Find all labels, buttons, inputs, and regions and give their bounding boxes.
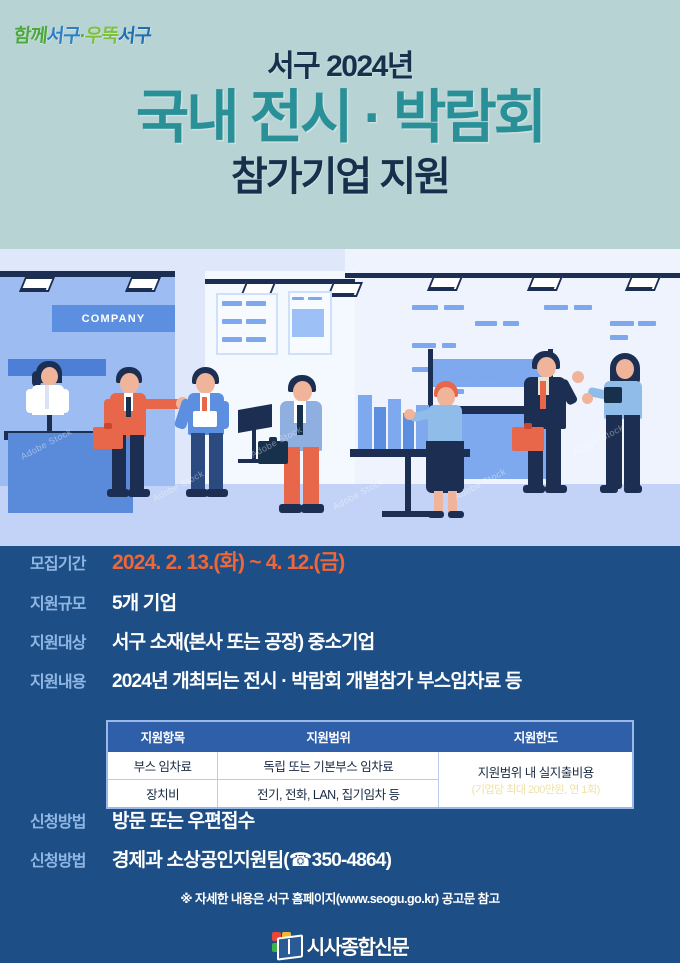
- title-line-3: 참가기업 지원: [0, 154, 680, 200]
- wall-text-line: [503, 321, 519, 326]
- info-value: 5개 기업: [112, 588, 176, 615]
- table-header-scope: 지원범위: [218, 721, 439, 752]
- model-building: [374, 407, 386, 449]
- info-label: 모집기간: [30, 550, 112, 574]
- poster-text-line: [292, 297, 304, 300]
- poster-image-block: [292, 309, 324, 337]
- info-row-eligibility: 지원대상 서구 소재(본사 또는 공장) 중소기업: [0, 627, 680, 654]
- booth-sign-label: COMPANY: [52, 305, 175, 332]
- ceiling-lamp-icon: [527, 276, 563, 291]
- logo-part-2: 서구: [46, 26, 81, 47]
- limit-note-text: (기업당 최대 200만원, 연 1회): [439, 781, 632, 797]
- wall-text-line: [574, 305, 592, 310]
- ceiling-lamp-icon: [625, 276, 661, 291]
- model-building: [358, 395, 372, 449]
- ceiling-lamp-icon: [125, 277, 161, 292]
- wall-text-line: [475, 321, 497, 326]
- wall-text-line: [412, 343, 436, 348]
- newspaper-book-icon: [272, 932, 302, 958]
- footer-value-contact[interactable]: 경제과 소상공인지원팀(☎350-4864): [112, 845, 391, 872]
- table-header-item: 지원항목: [107, 721, 218, 752]
- poster-text-line: [246, 319, 266, 324]
- info-value: 서구 소재(본사 또는 공장) 중소기업: [112, 627, 375, 654]
- logo-part-4: 서구: [117, 26, 152, 47]
- poster-header: 함께서구·우뚝서구 서구 2024년 국내 전시 · 박람회 참가기업 지원: [0, 0, 680, 249]
- wall-text-line: [442, 343, 456, 348]
- title-line-2: 국내 전시 · 박람회: [0, 85, 680, 152]
- wall-text-line: [638, 321, 656, 326]
- ceiling-lamp-icon: [19, 277, 55, 292]
- info-value: 2024년 개최되는 전시 · 박람회 개별참가 부스임차료 등: [112, 666, 522, 693]
- support-details-table: 지원항목 지원범위 지원한도 부스 임차료 독립 또는 기본부스 임차료 지원범…: [106, 720, 634, 809]
- footer-label: 신청방법: [30, 808, 112, 832]
- center-booth-post: [428, 349, 433, 409]
- wall-text-line: [444, 305, 464, 310]
- info-label: 지원내용: [30, 668, 112, 692]
- center-booth-text-line: [478, 375, 496, 380]
- table-header-row: 지원항목 지원범위 지원한도: [107, 721, 633, 752]
- info-row-support-content: 지원내용 2024년 개최되는 전시 · 박람회 개별참가 부스임차료 등: [0, 666, 680, 693]
- support-details-table-wrapper: 지원항목 지원범위 지원한도 부스 임차료 독립 또는 기본부스 임차료 지원범…: [106, 720, 634, 809]
- table-cell-item: 장치비: [107, 780, 218, 809]
- sisa-jonghap-sinmun-logo: 시사종합신문: [0, 928, 680, 962]
- poster-title-group: 서구 2024년 국내 전시 · 박람회 참가기업 지원: [0, 50, 680, 200]
- wall-text-line: [610, 335, 628, 340]
- info-row-recruitment-period: 모집기간 2024. 2. 13.(화) ~ 4. 12.(금): [0, 546, 680, 576]
- center-booth-text-line: [450, 375, 472, 380]
- seogu-slogan-logo-text: 함께서구·우뚝서구: [13, 21, 153, 48]
- poster-text-line: [222, 319, 242, 324]
- wall-text-line: [544, 305, 568, 310]
- info-label: 지원대상: [30, 629, 112, 653]
- poster-text-line: [222, 301, 242, 306]
- seogu-slogan-logo: 함께서구·우뚝서구: [14, 18, 189, 50]
- poster-text-line: [222, 337, 242, 342]
- footer-note: ※ 자세한 내용은 서구 홈페이지(www.seogu.go.kr) 공고문 참…: [0, 888, 680, 907]
- poster-text-line: [308, 297, 322, 300]
- model-building: [388, 399, 401, 449]
- poster-root: 함께서구·우뚝서구 서구 2024년 국내 전시 · 박람회 참가기업 지원 C…: [0, 0, 680, 963]
- display-table-leg: [405, 455, 411, 513]
- table-header-limit: 지원한도: [439, 721, 633, 752]
- logo-part-1: 함께: [13, 26, 48, 47]
- logo-part-3: 우뚝: [84, 26, 119, 47]
- footer-row-contact: 신청방법 경제과 소상공인지원팀(☎350-4864): [0, 845, 680, 872]
- wall-text-line: [610, 321, 634, 326]
- table-row: 부스 임차료 독립 또는 기본부스 임차료 지원범위 내 실지출비용 (기업당 …: [107, 752, 633, 780]
- info-value-date: 2024. 2. 13.(화) ~ 4. 12.(금): [112, 546, 344, 576]
- poster-text-line: [246, 337, 266, 342]
- display-table-foot: [382, 511, 434, 517]
- footer-label: 신청방법: [30, 847, 112, 871]
- info-row-support-scale: 지원규모 5개 기업: [0, 588, 680, 615]
- title-line-1: 서구 2024년: [0, 50, 680, 83]
- table-cell-item: 부스 임차료: [107, 752, 218, 780]
- table-cell-scope: 전기, 전화, LAN, 집기임차 등: [218, 780, 439, 809]
- newspaper-name: 시사종합신문: [307, 931, 408, 960]
- table-cell-limit: 지원범위 내 실지출비용 (기업당 최대 200만원, 연 1회): [439, 752, 633, 809]
- info-label: 지원규모: [30, 590, 112, 614]
- wall-text-line: [412, 305, 438, 310]
- table-cell-scope: 독립 또는 기본부스 임차료: [218, 752, 439, 780]
- footer-row-application-method: 신청방법 방문 또는 우편접수: [0, 806, 680, 833]
- trade-show-booth-illustration: COMPANY: [0, 249, 680, 546]
- ceiling-lamp-icon: [327, 282, 363, 297]
- ceiling-lamp-icon: [427, 276, 463, 291]
- program-info-list: 모집기간 2024. 2. 13.(화) ~ 4. 12.(금) 지원규모 5개…: [0, 546, 680, 705]
- poster-text-line: [246, 301, 266, 306]
- limit-main-text: 지원범위 내 실지출비용: [439, 762, 632, 781]
- application-info-list: 신청방법 방문 또는 우편접수 신청방법 경제과 소상공인지원팀(☎350-48…: [0, 806, 680, 907]
- footer-value: 방문 또는 우편접수: [112, 806, 254, 833]
